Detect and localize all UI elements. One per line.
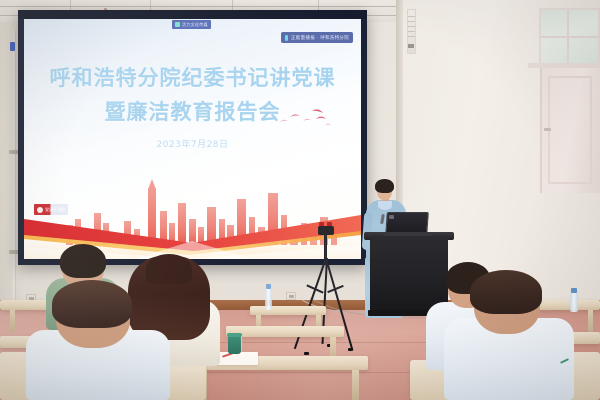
birds-decoration	[276, 106, 332, 132]
attendee-right-front-hair	[470, 270, 542, 314]
watermark-right-badge: 正能量播报 · 呼和浩特分院	[281, 32, 353, 43]
tumbler-lid	[227, 333, 242, 337]
watermark-top-text: 活力文化传媒	[182, 22, 208, 28]
bottle-cap	[266, 284, 271, 289]
wall-pipe	[12, 30, 16, 330]
vent-control-box	[408, 44, 414, 48]
desk	[226, 326, 344, 337]
green-tumbler	[228, 336, 241, 354]
projection-screen: 活力文化传媒 正能量播报 · 呼和浩特分院 呼和浩特分院纪委书记讲党课 暨廉洁教…	[18, 10, 367, 265]
door-panel	[548, 76, 592, 184]
water-bottle	[265, 288, 272, 310]
watermark-top-badge: 活力文化传媒	[172, 20, 211, 29]
presentation-slide: 活力文化传媒 正能量播报 · 呼和浩特分院 呼和浩特分院纪委书记讲党课 暨廉洁教…	[24, 16, 361, 259]
door-handle[interactable]	[544, 128, 551, 131]
bottle-cap	[571, 288, 577, 293]
slide-date: 2023年7月28日	[24, 137, 361, 150]
laptop-logo	[389, 215, 394, 219]
attendee-foreground-hair	[52, 280, 132, 328]
pipe-tag	[10, 42, 15, 51]
watermark-left-text: 党课开讲啦	[45, 207, 65, 213]
attendee-white-blouse-head	[146, 254, 192, 284]
speaker-hair	[375, 179, 394, 193]
power-outlet[interactable]	[286, 292, 296, 300]
desk	[250, 306, 326, 315]
seal-icon	[37, 207, 43, 213]
speaker-collar	[378, 201, 392, 210]
water-bottle	[570, 292, 578, 312]
watermark-left-badge: 党课开讲啦	[34, 204, 68, 215]
watermark-right-text: 正能量播报 · 呼和浩特分院	[291, 35, 349, 41]
chart-icon	[175, 22, 180, 27]
lecture-room-photo: 活力文化传媒 正能量播报 · 呼和浩特分院 呼和浩特分院纪委书记讲党课 暨廉洁教…	[0, 0, 600, 400]
screen-top-bar	[18, 10, 367, 19]
attendee-green-shirt-hair	[60, 244, 106, 278]
slide-title-line1: 呼和浩特分院纪委书记讲党课	[24, 62, 361, 92]
microphone-icon	[285, 35, 288, 41]
